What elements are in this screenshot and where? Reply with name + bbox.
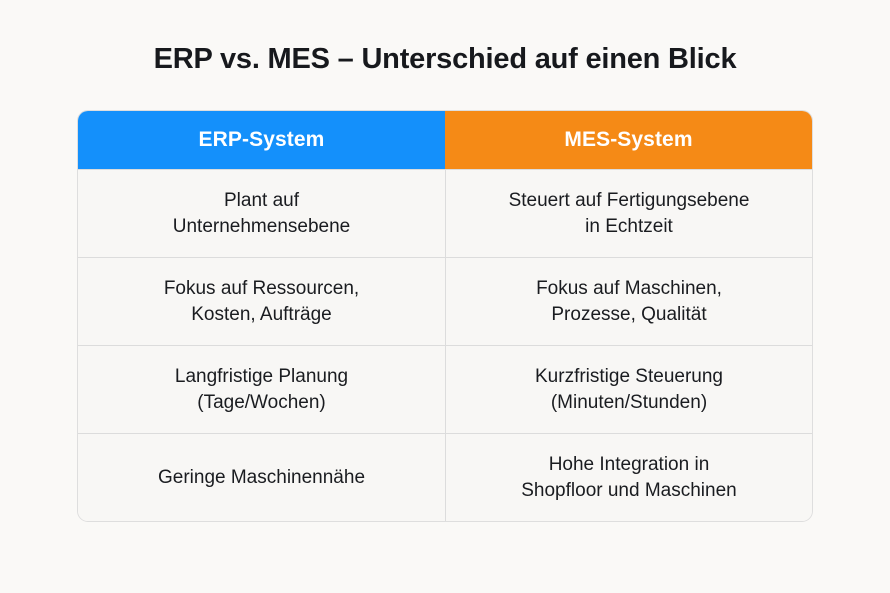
table-header-cell-erp: ERP-System [78,111,445,169]
table-cell-text-erp: Geringe Maschinennähe [158,465,365,491]
table-header-label-mes: MES-System [564,128,692,152]
table-row: Fokus auf Ressourcen, Kosten, Aufträge F… [78,257,812,345]
table-cell-text-mes: Steuert auf Fertigungsebene in Echtzeit [509,188,750,240]
table-cell-mes: Kurzfristige Steuerung (Minuten/Stunden) [445,346,812,433]
table-header-row: ERP-System MES-System [78,111,812,169]
table-cell-text-erp: Plant auf Unternehmensebene [173,188,350,240]
table-cell-erp: Geringe Maschinennähe [78,434,445,521]
table-row: Plant auf Unternehmensebene Steuert auf … [78,169,812,257]
table-cell-text-erp: Fokus auf Ressourcen, Kosten, Aufträge [164,276,359,328]
table-header-label-erp: ERP-System [199,128,325,152]
table-cell-erp: Plant auf Unternehmensebene [78,170,445,257]
table-cell-mes: Hohe Integration in Shopfloor und Maschi… [445,434,812,521]
table-cell-erp: Fokus auf Ressourcen, Kosten, Aufträge [78,258,445,345]
table-cell-text-mes: Fokus auf Maschinen, Prozesse, Qualität [536,276,722,328]
table-cell-text-mes: Hohe Integration in Shopfloor und Maschi… [521,452,736,504]
table-row: Geringe Maschinennähe Hohe Integration i… [78,433,812,521]
table-cell-mes: Steuert auf Fertigungsebene in Echtzeit [445,170,812,257]
table-cell-text-mes: Kurzfristige Steuerung (Minuten/Stunden) [535,364,723,416]
table-cell-erp: Langfristige Planung (Tage/Wochen) [78,346,445,433]
table-cell-text-erp: Langfristige Planung (Tage/Wochen) [175,364,348,416]
table-row: Langfristige Planung (Tage/Wochen) Kurzf… [78,345,812,433]
table-header-cell-mes: MES-System [445,111,812,169]
table-cell-mes: Fokus auf Maschinen, Prozesse, Qualität [445,258,812,345]
comparison-infographic: ERP vs. MES – Unterschied auf einen Blic… [0,0,890,593]
page-title: ERP vs. MES – Unterschied auf einen Blic… [0,40,890,78]
comparison-table: ERP-System MES-System Plant auf Unterneh… [77,110,813,522]
